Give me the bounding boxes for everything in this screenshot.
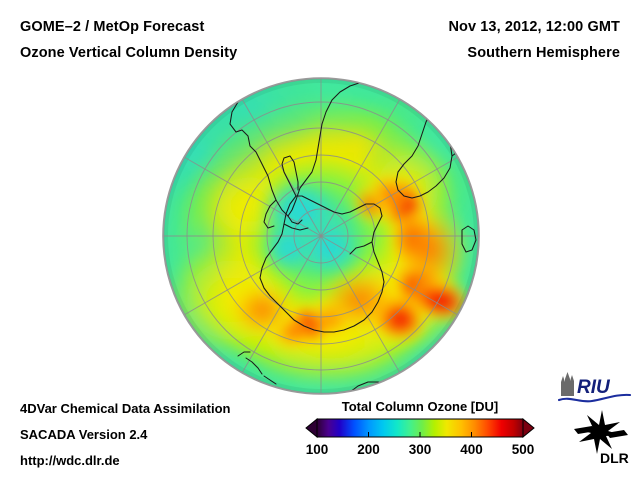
riu-tower-icon [561, 372, 574, 396]
riu-logo: RIU [558, 370, 632, 406]
riu-logo-text: RIU [577, 377, 611, 398]
dlr-mark-icon [574, 410, 628, 454]
colorbar-svg [305, 417, 535, 439]
colorbar-tick-4: 500 [512, 442, 535, 457]
colorbar-tick-2: 300 [409, 442, 432, 457]
colorbar-tick-1: 200 [357, 442, 380, 457]
colorbar [305, 417, 535, 439]
dlr-logo-svg: DLR [566, 409, 636, 465]
footer-line-2: SACADA Version 2.4 [20, 427, 147, 442]
footer-line-3[interactable]: http://wdc.dlr.de [20, 453, 120, 468]
colorbar-title: Total Column Ozone [DU] [305, 399, 535, 414]
ozone-field [122, 44, 503, 422]
ozone-forecast-figure: GOME–2 / MetOp Forecast Ozone Vertical C… [0, 0, 640, 480]
dlr-logo: DLR [566, 409, 636, 465]
colorbar-tick-labels: 100 200 300 400 500 [295, 442, 545, 462]
colorbar-max-arrow [523, 419, 534, 437]
colorbar-tick-3: 400 [460, 442, 483, 457]
dlr-logo-text: DLR [600, 450, 629, 465]
footer-line-1: 4DVar Chemical Data Assimilation [20, 401, 231, 416]
colorbar-tick-0: 100 [306, 442, 329, 457]
riu-logo-svg: RIU [558, 370, 632, 406]
colorbar-min-arrow [306, 419, 317, 437]
